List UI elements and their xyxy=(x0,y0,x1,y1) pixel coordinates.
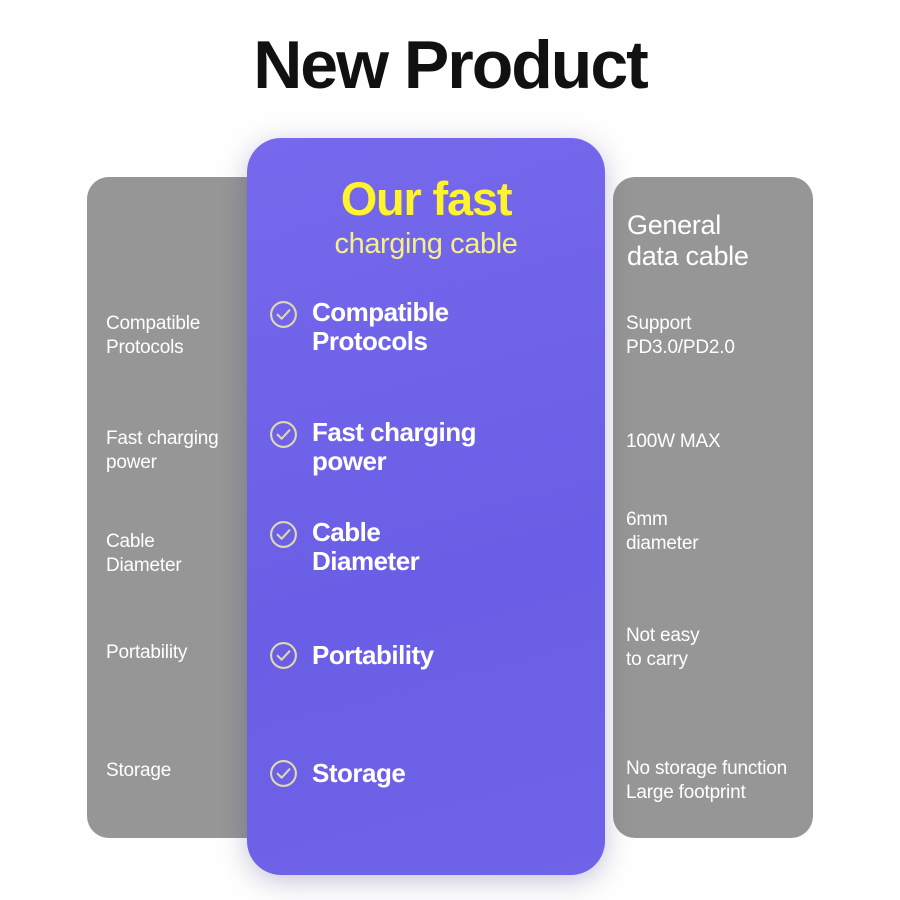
our-product-card: Our fast charging cable Compatible Proto… xyxy=(247,138,605,875)
check-circle-icon xyxy=(269,641,298,670)
our-product-feature-row: Compatible Protocols xyxy=(269,298,589,356)
our-product-feature-rows: Compatible ProtocolsFast charging powerC… xyxy=(247,138,605,875)
our-product-feature-label: Storage xyxy=(312,759,405,788)
general-cable-spec-row: Support PD3.0/PD2.0 xyxy=(613,312,813,359)
general-cable-spec-row: 100W MAX xyxy=(613,430,813,454)
general-cable-spec-row: Not easy to carry xyxy=(613,624,813,671)
general-cable-rows: Support PD3.0/PD2.0100W MAX6mm diameterN… xyxy=(613,177,813,838)
general-cable-spec-row: No storage function Large footprint xyxy=(613,757,813,804)
our-product-feature-label: Cable Diameter xyxy=(312,518,419,576)
check-circle-icon xyxy=(269,300,298,329)
our-product-feature-label: Portability xyxy=(312,641,434,670)
infographic-canvas: New Product Compatible ProtocolsFast cha… xyxy=(0,0,900,900)
check-circle-icon xyxy=(269,520,298,549)
our-product-feature-label: Compatible Protocols xyxy=(312,298,449,356)
our-product-feature-row: Storage xyxy=(269,759,589,788)
check-circle-icon xyxy=(269,759,298,788)
check-circle-icon xyxy=(269,420,298,449)
general-cable-spec-row: 6mm diameter xyxy=(613,508,813,555)
our-product-feature-row: Cable Diameter xyxy=(269,518,589,576)
page-title: New Product xyxy=(0,26,900,104)
our-product-feature-label: Fast charging power xyxy=(312,418,476,476)
our-product-feature-row: Portability xyxy=(269,641,589,670)
general-cable-card: General data cable Support PD3.0/PD2.010… xyxy=(613,177,813,838)
our-product-feature-row: Fast charging power xyxy=(269,418,589,476)
